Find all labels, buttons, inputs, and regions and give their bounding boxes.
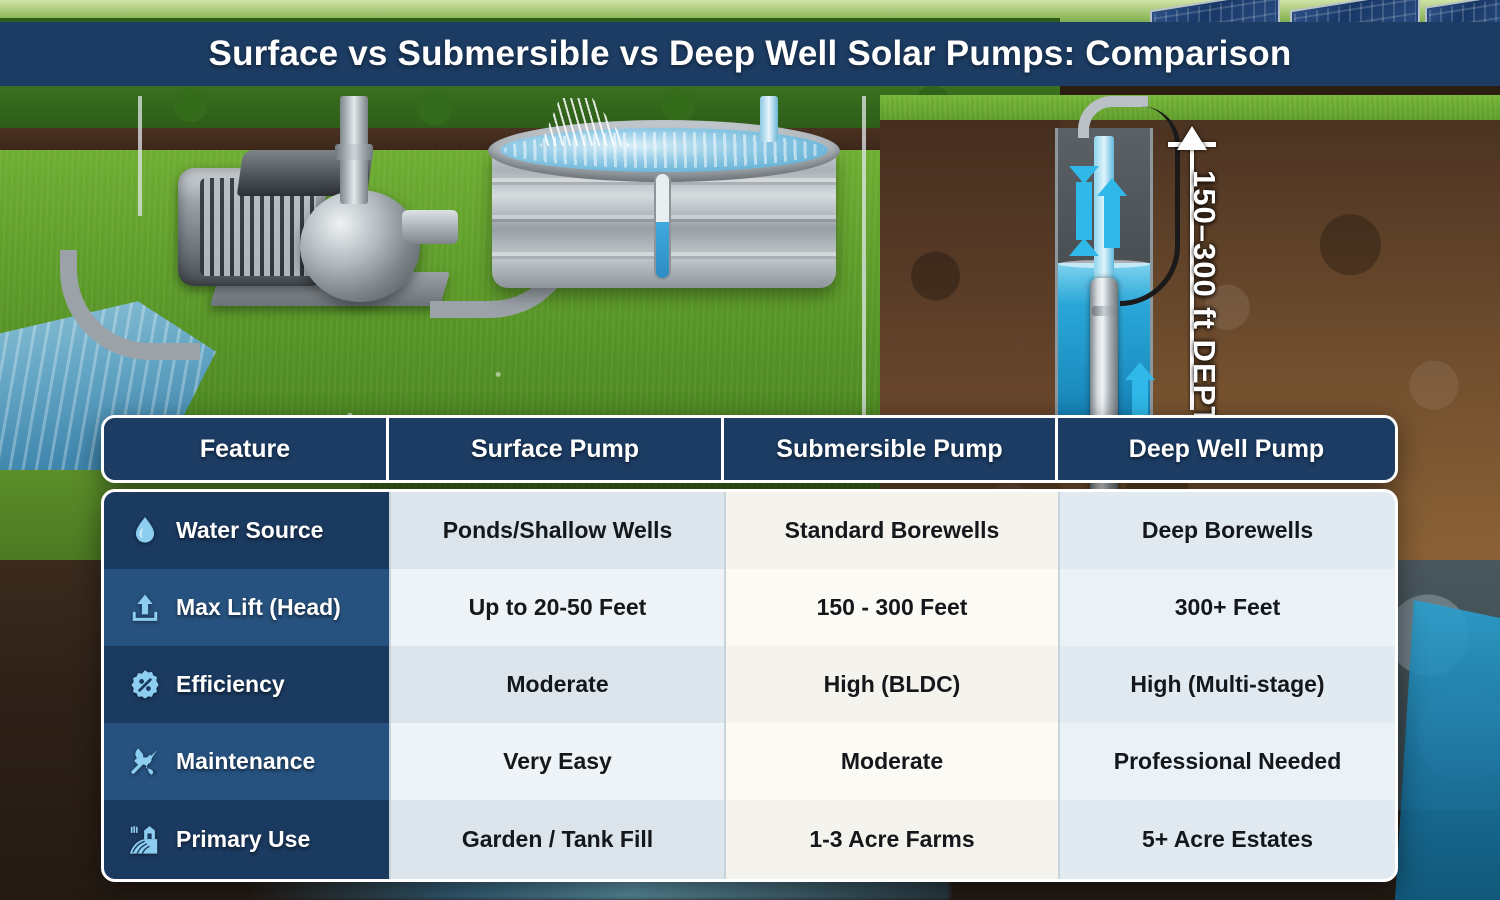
- column-header-deep-well-pump: Deep Well Pump: [1058, 418, 1395, 480]
- feature-cell: Primary Use: [104, 800, 389, 879]
- title-bar: Surface vs Submersible vs Deep Well Sola…: [0, 22, 1500, 86]
- value-submersible: 150 - 300 Feet: [724, 569, 1058, 646]
- feature-label: Primary Use: [176, 826, 310, 853]
- feature-label: Water Source: [176, 517, 323, 544]
- table-header-row: Feature Surface Pump Submersible Pump De…: [101, 415, 1398, 483]
- value-deepwell: 5+ Acre Estates: [1058, 800, 1395, 879]
- water-drop-icon: [128, 514, 162, 548]
- value-surface: Garden / Tank Fill: [389, 800, 724, 879]
- value-submersible: Moderate: [724, 723, 1058, 800]
- table-row: Maintenance Very Easy Moderate Professio…: [104, 723, 1395, 800]
- flow-arrow-down-icon: [1076, 182, 1092, 240]
- page-title: Surface vs Submersible vs Deep Well Sola…: [209, 34, 1292, 74]
- tank-level-gauge: [654, 172, 671, 280]
- column-header-surface-pump: Surface Pump: [389, 418, 724, 480]
- support-post: [138, 96, 142, 216]
- tank-inlet-stream: [760, 96, 778, 142]
- table-row: Water Source Ponds/Shallow Wells Standar…: [104, 492, 1395, 569]
- vertical-discharge-pipe: [340, 96, 368, 204]
- value-deepwell: Professional Needed: [1058, 723, 1395, 800]
- feature-cell: Water Source: [104, 492, 389, 569]
- feature-label: Efficiency: [176, 671, 285, 698]
- pump-volute-housing: [300, 190, 420, 302]
- depth-label: 150–300 ft DEPTH: [1186, 170, 1222, 450]
- flow-arrow-up-icon: [1104, 194, 1120, 248]
- table-row: Efficiency Moderate High (BLDC) High (Mu…: [104, 646, 1395, 723]
- table-row: Max Lift (Head) Up to 20-50 Feet 150 - 3…: [104, 569, 1395, 646]
- feature-cell: Max Lift (Head): [104, 569, 389, 646]
- value-submersible: 1-3 Acre Farms: [724, 800, 1058, 879]
- column-header-submersible-pump: Submersible Pump: [724, 418, 1058, 480]
- power-cable: [1120, 106, 1180, 306]
- wrench-screwdriver-icon: [128, 745, 162, 779]
- arrow-up-lift-icon: [128, 591, 162, 625]
- table-row: Primary Use Garden / Tank Fill 1-3 Acre …: [104, 800, 1395, 879]
- value-surface: Moderate: [389, 646, 724, 723]
- comparison-table: Feature Surface Pump Submersible Pump De…: [101, 415, 1398, 882]
- value-surface: Ponds/Shallow Wells: [389, 492, 724, 569]
- value-submersible: Standard Borewells: [724, 492, 1058, 569]
- value-deepwell: High (Multi-stage): [1058, 646, 1395, 723]
- percent-badge-icon: [128, 668, 162, 702]
- value-surface: Very Easy: [389, 723, 724, 800]
- support-post: [862, 96, 866, 426]
- farm-field-icon: [128, 823, 162, 857]
- feature-cell: Efficiency: [104, 646, 389, 723]
- table-body: Water Source Ponds/Shallow Wells Standar…: [101, 489, 1398, 882]
- value-submersible: High (BLDC): [724, 646, 1058, 723]
- value-surface: Up to 20-50 Feet: [389, 569, 724, 646]
- column-header-feature: Feature: [104, 418, 389, 480]
- feature-cell: Maintenance: [104, 723, 389, 800]
- value-deepwell: Deep Borewells: [1058, 492, 1395, 569]
- value-deepwell: 300+ Feet: [1058, 569, 1395, 646]
- feature-label: Max Lift (Head): [176, 594, 341, 621]
- feature-label: Maintenance: [176, 748, 315, 775]
